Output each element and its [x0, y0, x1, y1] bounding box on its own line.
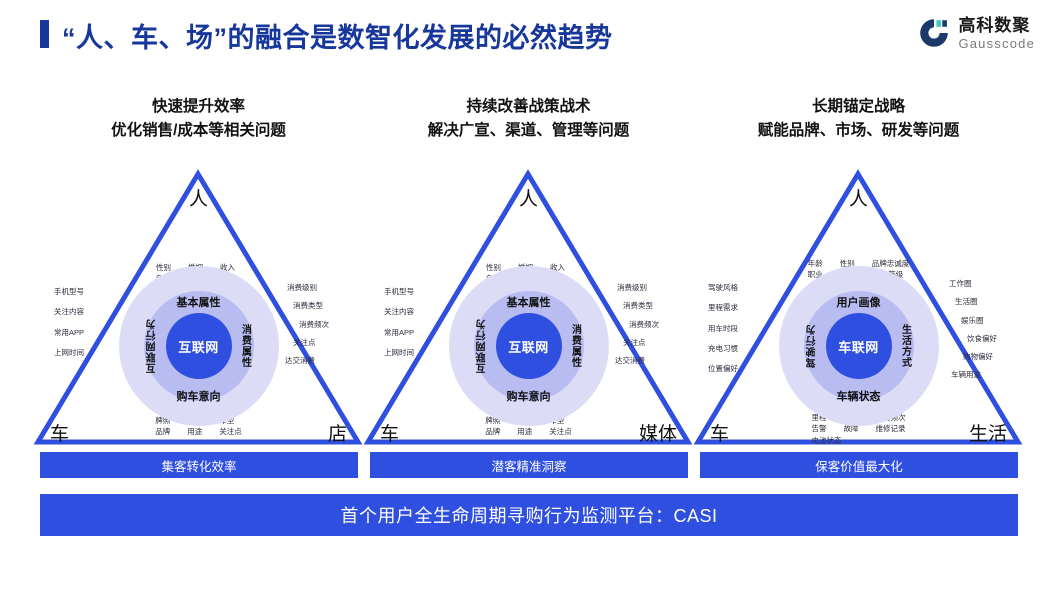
- brand-logo-text: 高科数聚 Gausscode: [958, 17, 1035, 50]
- concentric-circles-1: 基本属性 购车意向 互联网行为 消费属性 互联网: [119, 266, 279, 426]
- triangle-2-corner-left: 车: [380, 419, 399, 446]
- attr-item: 品牌: [485, 426, 506, 437]
- column-heading-1: 快速提升效率 优化销售/成本等相关问题: [32, 95, 365, 143]
- attr-item: 工作圈: [949, 278, 997, 289]
- footer-banner: 首个用户全生命周期寻购行为监测平台：CASI: [40, 494, 1018, 536]
- triangle-2-apex-label: 人: [362, 184, 695, 211]
- attr-item: 达交消费: [285, 355, 329, 366]
- title-accent-bar: [40, 20, 49, 48]
- brand-name-cn: 高科数聚: [958, 17, 1035, 34]
- triangle-3-attrs-right: 工作圈 生活圈 娱乐圈 饮食偏好 购物偏好 车辆用途: [963, 278, 997, 388]
- attr-item: 手机型号: [54, 286, 84, 297]
- result-bar-3: 保客价值最大化: [700, 452, 1018, 478]
- ring-label-bottom: 车辆状态: [779, 388, 939, 404]
- column-3-heading-line1: 长期锚定战略: [692, 95, 1025, 119]
- core-label: 互联网: [178, 337, 219, 356]
- attr-item: 娱乐圈: [961, 315, 997, 326]
- attr-item: 用途: [187, 426, 208, 437]
- triangle-1-attrs-right: 消费级别 消费类型 消费频次 关注点 达交消费: [297, 282, 329, 373]
- attr-item: 充电习惯: [708, 343, 738, 354]
- triangle-1-corner-left: 车: [50, 419, 69, 446]
- column-2-heading-line2: 解决广宣、渠道、管理等问题: [362, 119, 695, 143]
- column-heading-2: 持续改善战策战术 解决广宣、渠道、管理等问题: [362, 95, 695, 143]
- ring-label-bottom: 购车意向: [449, 388, 609, 404]
- attr-item: 驾驶风格: [708, 282, 738, 293]
- triangle-1-apex-label: 人: [32, 184, 365, 211]
- attr-item: 手机型号: [384, 286, 414, 297]
- attr-item: 用途: [517, 426, 538, 437]
- gausscode-logo-icon: [917, 16, 951, 50]
- attr-item: 消费级别: [617, 282, 659, 293]
- ring-label-left: 互联网行为: [145, 319, 160, 374]
- attr-item: 位置偏好: [708, 363, 738, 374]
- ring-label-left: 驾驶行为: [805, 324, 820, 368]
- result-bar-2: 潜客精准洞察: [370, 452, 688, 478]
- triangle-diagram-1: 人 车 店 性别婚姻收入 年龄职业家庭 居住地 手机型号 关注内容 常用APP …: [32, 160, 365, 450]
- page-title: “人、车、场”的融合是数智化发展的必然趋势: [62, 16, 613, 55]
- triangle-3-apex-label: 人: [692, 184, 1025, 211]
- ring-label-right: 消费属性: [568, 324, 583, 368]
- attr-item: 车辆用途: [951, 369, 997, 380]
- triangle-2-corner-right: 媒体: [639, 419, 677, 446]
- attr-item: 达交消费: [615, 355, 659, 366]
- core-circle: 车联网: [826, 313, 892, 379]
- core-label: 互联网: [508, 337, 549, 356]
- triangle-3-corner-right: 生活: [969, 419, 1007, 446]
- core-circle: 互联网: [166, 313, 232, 379]
- triangle-diagram-2: 人 车 媒体 性别婚姻收入 年龄职业家庭 居住地 手机型号 关注内容 常用APP…: [362, 160, 695, 450]
- brand-name-en: Gausscode: [958, 37, 1035, 50]
- attr-item: 消费频次: [299, 319, 329, 330]
- ring-label-top: 基本属性: [119, 294, 279, 310]
- triangle-1-corner-right: 店: [328, 419, 347, 446]
- attr-item: 常用APP: [384, 327, 414, 338]
- attr-item: 关注内容: [384, 306, 414, 317]
- attr-item: 关注点: [623, 337, 659, 348]
- attr-item: 上网时间: [54, 347, 84, 358]
- column-2-heading-line1: 持续改善战策战术: [362, 95, 695, 119]
- concentric-circles-3: 用户画像 车辆状态 驾驶行为 生活方式 车联网: [779, 266, 939, 426]
- attr-item: 关注内容: [54, 306, 84, 317]
- ring-label-left: 互联网行为: [475, 319, 490, 374]
- core-label: 车联网: [838, 337, 879, 356]
- page-header: “人、车、场”的融合是数智化发展的必然趋势 高科数聚 Gausscode: [0, 0, 1057, 72]
- triangle-2-attrs-right: 消费级别 消费类型 消费频次 关注点 达交消费: [627, 282, 659, 373]
- attr-item: 关注点: [549, 426, 572, 437]
- ring-label-top: 基本属性: [449, 294, 609, 310]
- attr-item: 消费级别: [287, 282, 329, 293]
- ring-label-right: 消费属性: [238, 324, 253, 368]
- attr-item: 品牌: [155, 426, 176, 437]
- concentric-circles-2: 基本属性 购车意向 互联网行为 消费属性 互联网: [449, 266, 609, 426]
- column-1-heading-line1: 快速提升效率: [32, 95, 365, 119]
- attr-item: 关注点: [293, 337, 329, 348]
- attr-item: 消费类型: [623, 300, 659, 311]
- attr-item: 消费类型: [293, 300, 329, 311]
- triangle-3-attrs-left: 驾驶风格 里程需求 用车时段 充电习惯 位置偏好: [708, 282, 738, 383]
- ring-label-bottom: 购车意向: [119, 388, 279, 404]
- attr-item: 购物偏好: [963, 351, 997, 362]
- attr-item: 常用APP: [54, 327, 84, 338]
- triangle-1-attrs-left: 手机型号 关注内容 常用APP 上网时间: [54, 286, 84, 367]
- attr-item: 上网时间: [384, 347, 414, 358]
- attr-item: 里程需求: [708, 302, 738, 313]
- attr-item: 消费频次: [629, 319, 659, 330]
- column-3-heading-line2: 赋能品牌、市场、研发等问题: [692, 119, 1025, 143]
- ring-label-top: 用户画像: [779, 294, 939, 310]
- attr-item: 关注点: [219, 426, 242, 437]
- attr-item: 饮食偏好: [967, 333, 997, 344]
- column-heading-3: 长期锚定战略 赋能品牌、市场、研发等问题: [692, 95, 1025, 143]
- ring-label-right: 生活方式: [898, 324, 913, 368]
- core-circle: 互联网: [496, 313, 562, 379]
- triangle-2-attrs-left: 手机型号 关注内容 常用APP 上网时间: [384, 286, 414, 367]
- triangle-3-corner-left: 车: [710, 419, 729, 446]
- attr-item: 电池状态: [812, 435, 842, 446]
- brand-logo: 高科数聚 Gausscode: [917, 16, 1035, 50]
- triangle-diagram-3: 人 车 生活 年龄性别品牌忠诚度 职业居住地资产等级 驾驶风格 里程需求 用车时…: [692, 160, 1025, 450]
- column-1-heading-line2: 优化销售/成本等相关问题: [32, 119, 365, 143]
- result-bar-1: 集客转化效率: [40, 452, 358, 478]
- attr-item: 生活圈: [955, 296, 997, 307]
- attr-item: 用车时段: [708, 323, 738, 334]
